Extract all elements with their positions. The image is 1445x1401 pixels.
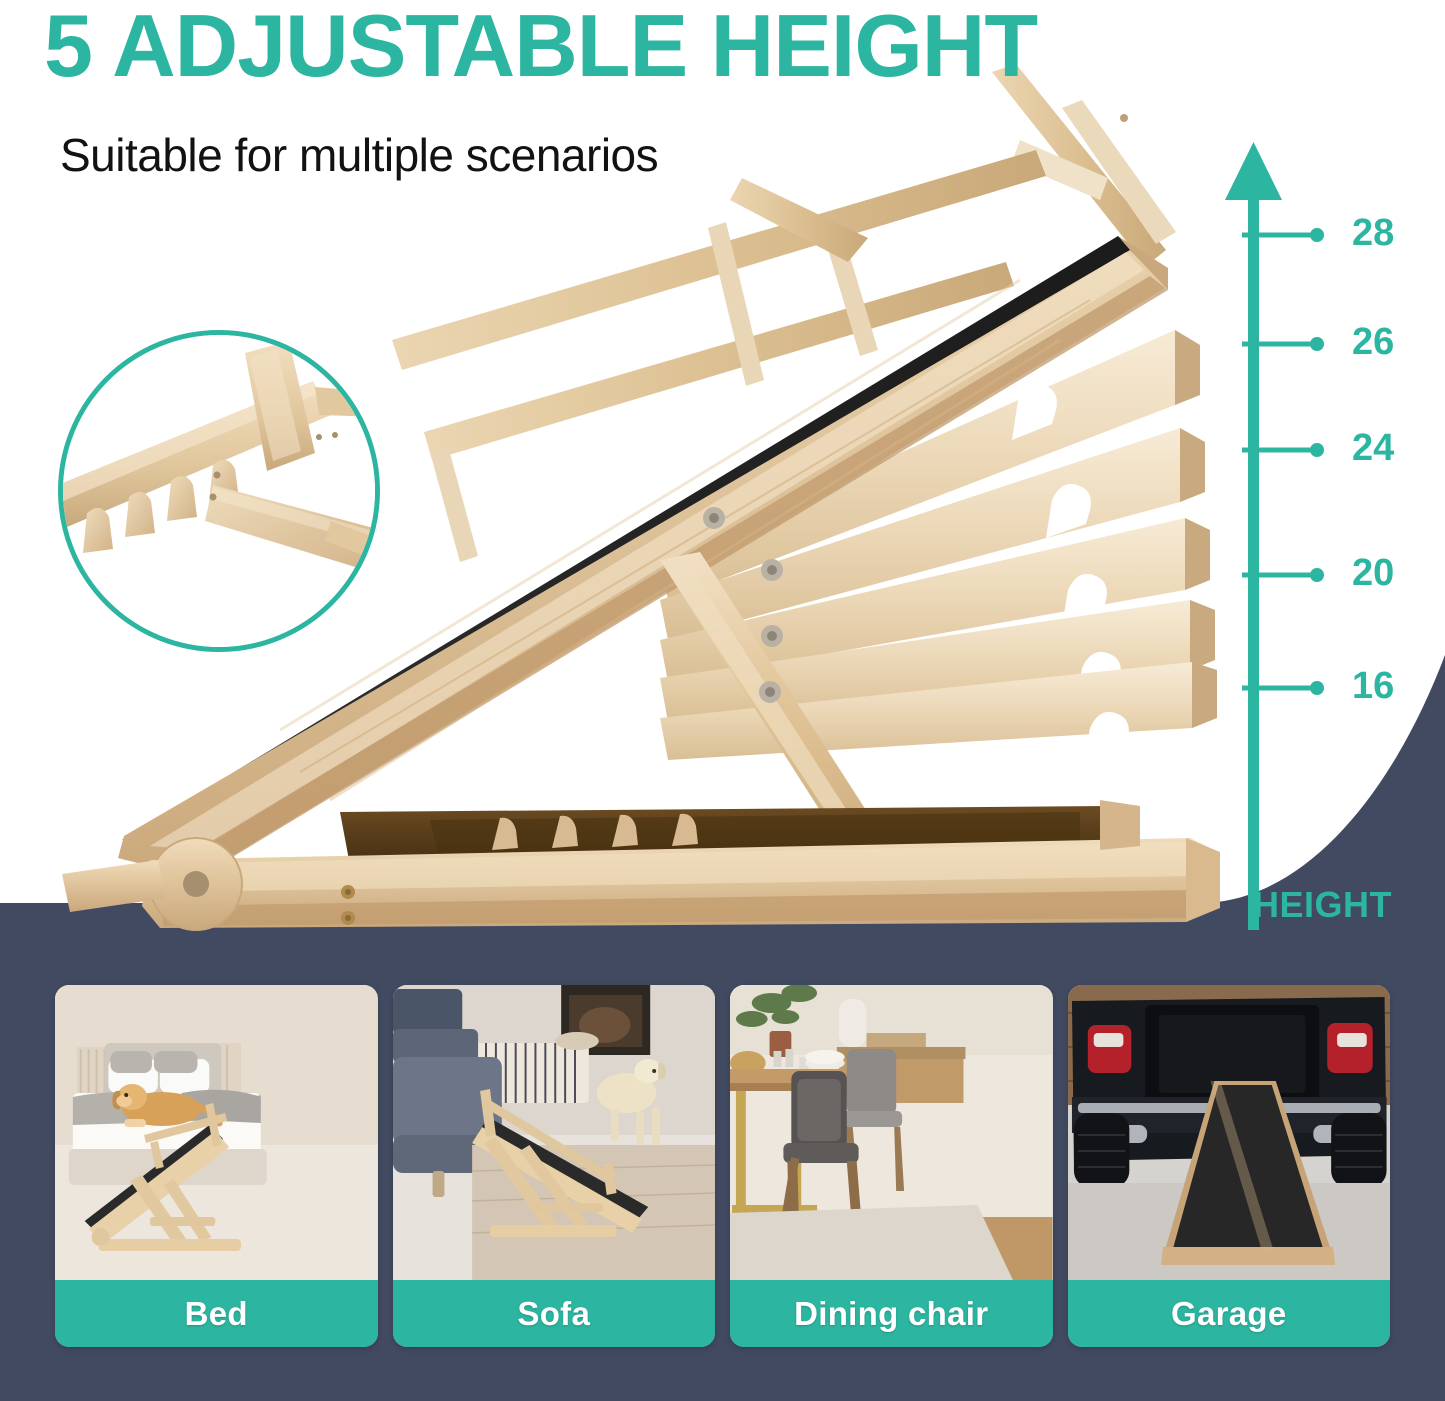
garage-scene-photo bbox=[1068, 985, 1391, 1280]
scenario-card-bed[interactable]: Bed bbox=[55, 985, 378, 1347]
height-axis-label: HEIGHT bbox=[1253, 884, 1392, 926]
scale-tick-16: 16 bbox=[1352, 667, 1394, 705]
scenario-label-sofa: Sofa bbox=[393, 1280, 716, 1347]
dining-scene-photo bbox=[730, 985, 1053, 1280]
scenario-label-dining-chair: Dining chair bbox=[730, 1280, 1053, 1347]
sofa-scene-photo bbox=[393, 985, 716, 1280]
bed-scene-photo bbox=[55, 985, 378, 1280]
scale-tick-26: 26 bbox=[1352, 323, 1394, 361]
scenario-card-sofa[interactable]: Sofa bbox=[393, 985, 716, 1347]
scenario-card-garage[interactable]: Garage bbox=[1068, 985, 1391, 1347]
page-subtitle: Suitable for multiple scenarios bbox=[60, 128, 658, 182]
detail-zoom-callout bbox=[58, 330, 380, 652]
scenario-card-list: Bed bbox=[0, 985, 1445, 1365]
scenario-card-dining-chair[interactable]: Dining chair bbox=[730, 985, 1053, 1347]
scenario-label-bed: Bed bbox=[55, 1280, 378, 1347]
scale-tick-28: 28 bbox=[1352, 214, 1394, 252]
infographic-page: 5 ADJUSTABLE HEIGHT Suitable for multipl… bbox=[0, 0, 1445, 1401]
height-scale-axis bbox=[1220, 140, 1445, 930]
scale-tick-20: 20 bbox=[1352, 554, 1394, 592]
scale-tick-24: 24 bbox=[1352, 429, 1394, 467]
scenario-label-garage: Garage bbox=[1068, 1280, 1391, 1347]
height-scale: 28 26 24 20 16 bbox=[1220, 140, 1445, 930]
page-title: 5 ADJUSTABLE HEIGHT bbox=[44, 2, 1404, 90]
